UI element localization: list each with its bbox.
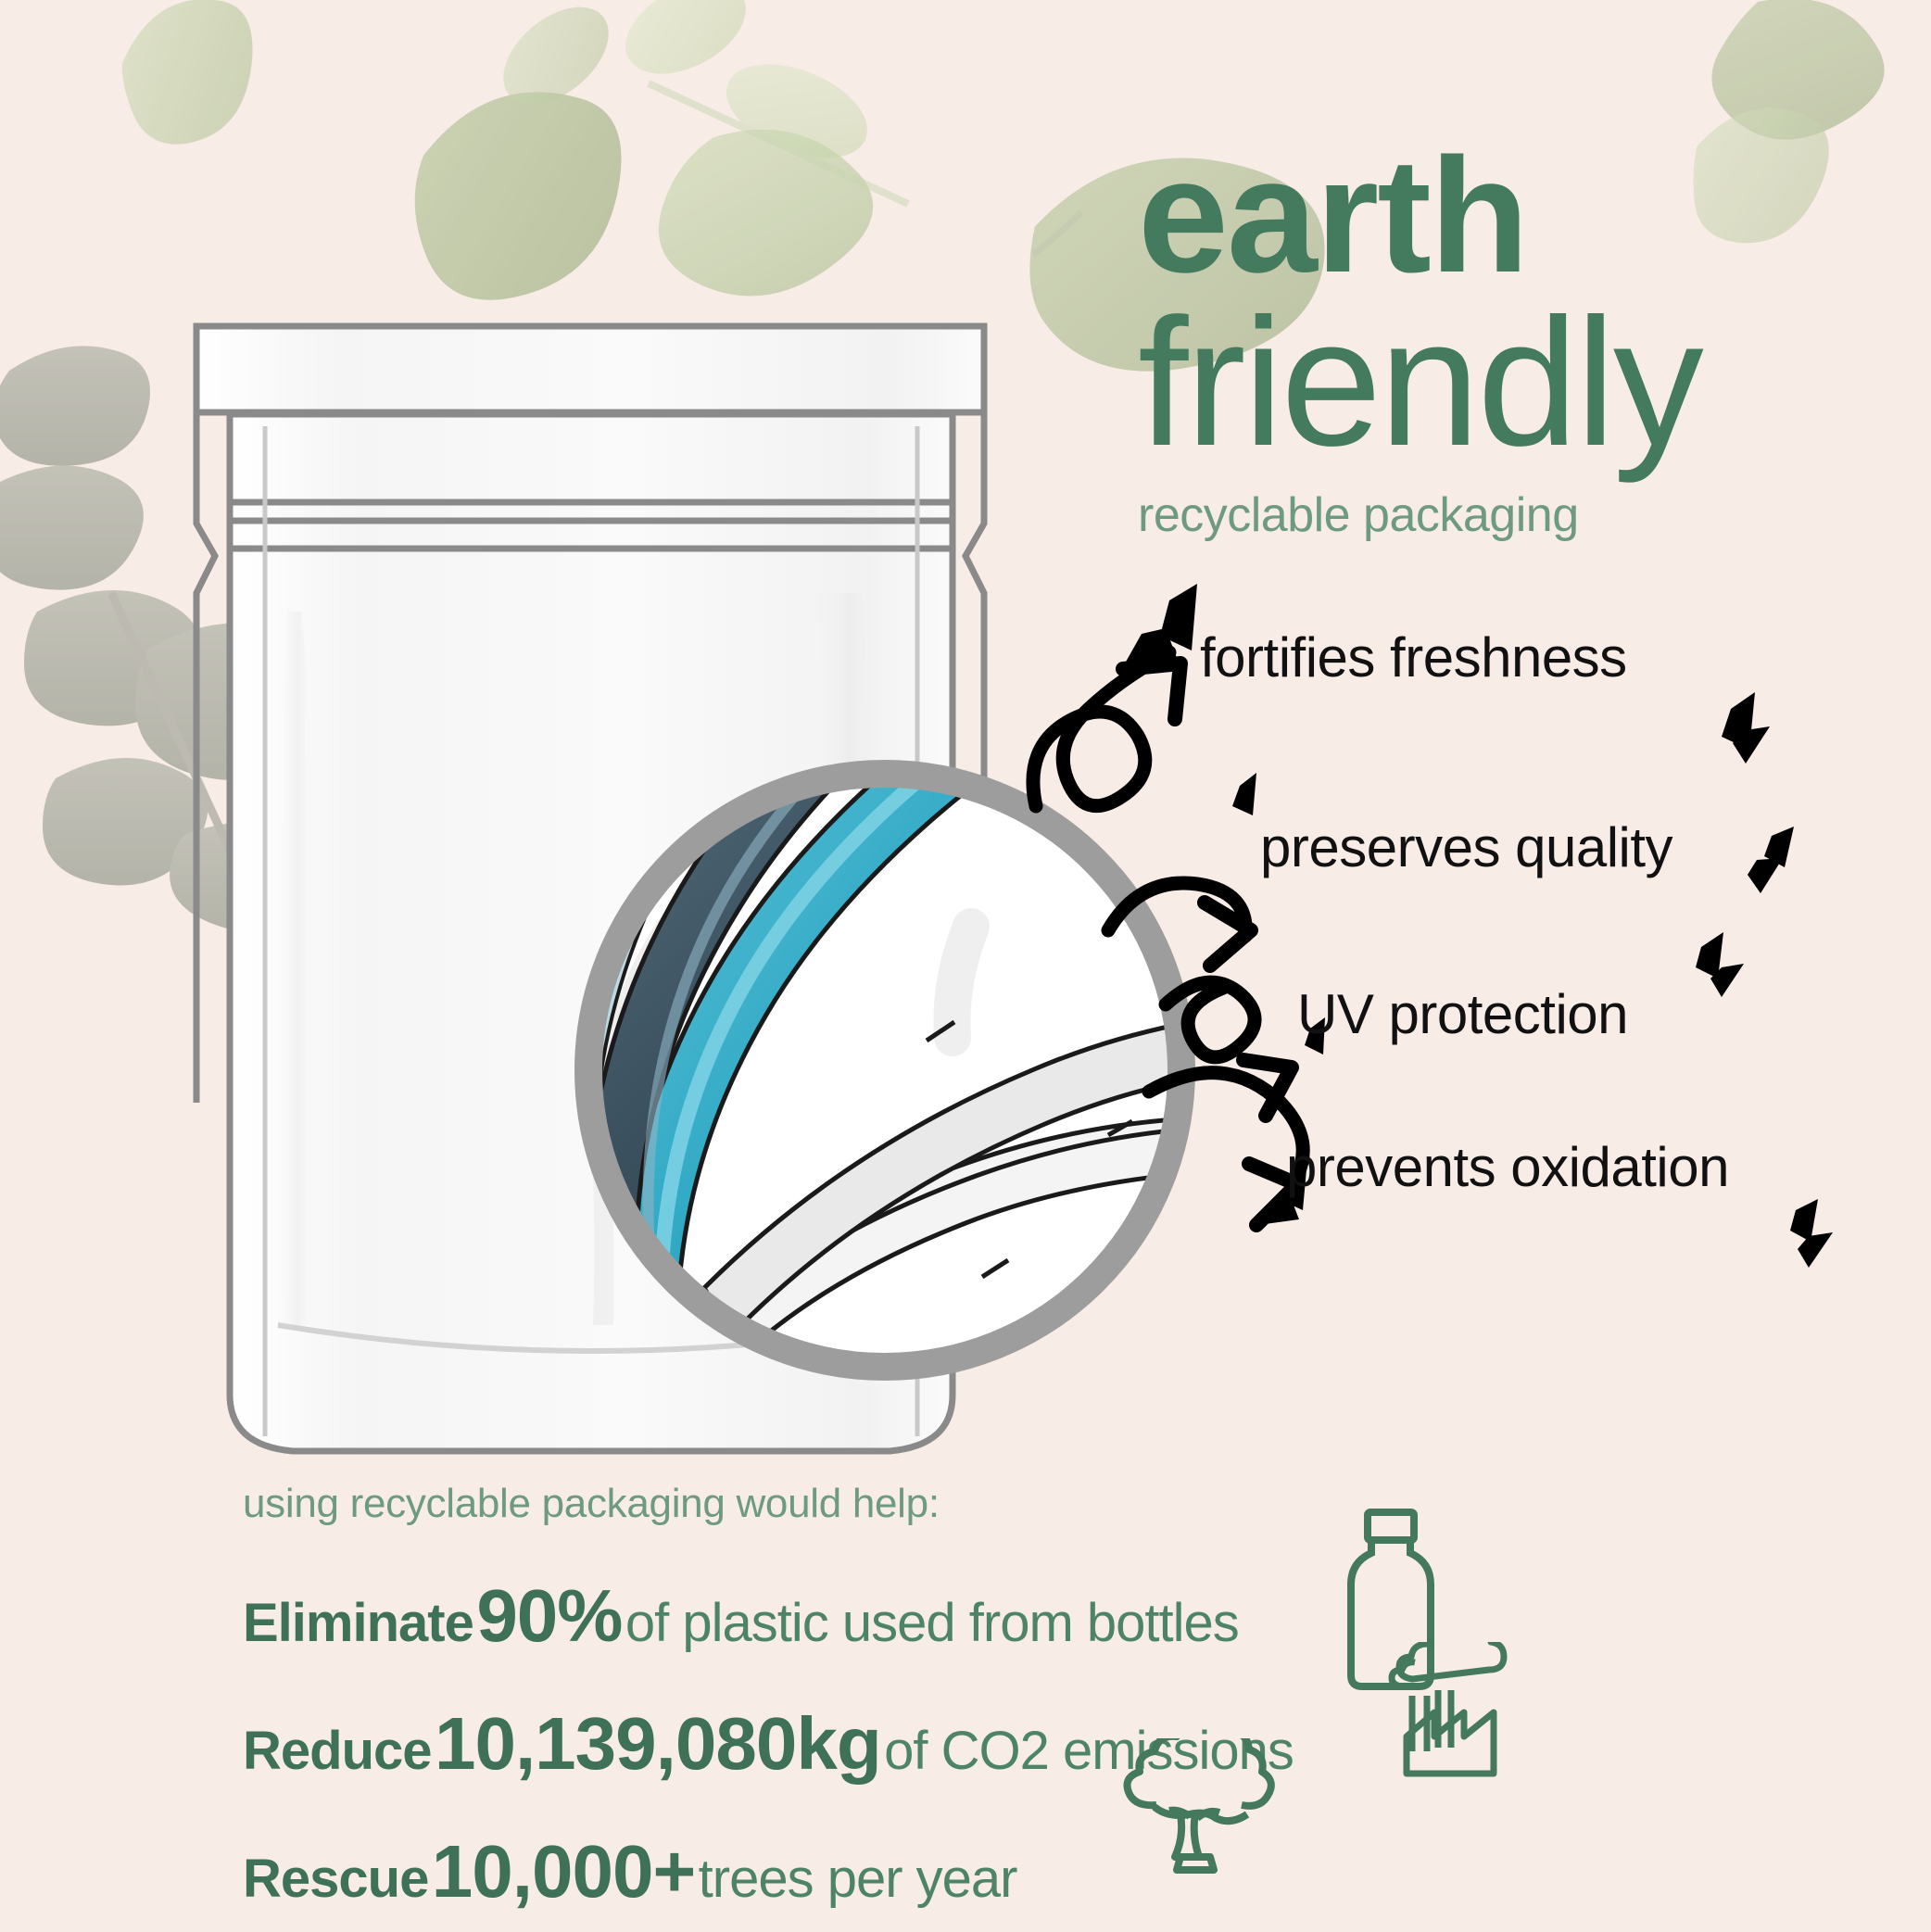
curly-arrow-icon-1 xyxy=(1033,652,1169,806)
stat-value: 90% xyxy=(476,1574,622,1657)
stat-value: 10,139,080kg xyxy=(435,1702,881,1785)
feature-label-preserves-quality: preserves quality xyxy=(1260,815,1672,879)
sparkle-icon xyxy=(1748,858,1783,893)
stat-value: 10,000+ xyxy=(432,1830,695,1913)
feature-label-prevents-oxidation: prevents oxidation xyxy=(1286,1135,1729,1199)
headline-line-friendly: friendly xyxy=(1138,299,1907,466)
stat-verb: Reduce xyxy=(243,1721,432,1781)
curly-arrow-icon-3 xyxy=(1166,982,1255,1057)
stat-verb: Eliminate xyxy=(243,1593,473,1653)
headline-line-earth: earth xyxy=(1138,139,1907,294)
infographic-canvas: earth friendly recyclable packaging fort… xyxy=(0,0,1931,1932)
sparkle-icon xyxy=(1790,1199,1818,1242)
stat-rest: of plastic used from bottles xyxy=(625,1593,1239,1653)
sparkle-icon xyxy=(1798,1232,1833,1268)
headline-block: earth friendly recyclable packaging xyxy=(1138,139,1907,543)
tree-icon xyxy=(1101,1738,1277,1896)
factory-icon xyxy=(1381,1642,1510,1786)
stat-row: Rescue 10,000+ trees per year xyxy=(243,1829,1633,1914)
stat-rest: trees per year xyxy=(699,1849,1017,1909)
feature-label-uv-protection: UV protection xyxy=(1297,982,1628,1046)
stat-verb: Rescue xyxy=(243,1849,428,1909)
feature-label-fortifies-freshness: fortifies freshness xyxy=(1200,625,1627,689)
arrow-head-1 xyxy=(1123,663,1180,719)
headline-subtitle: recyclable packaging xyxy=(1138,487,1907,543)
sparkle-icon xyxy=(1232,773,1256,815)
